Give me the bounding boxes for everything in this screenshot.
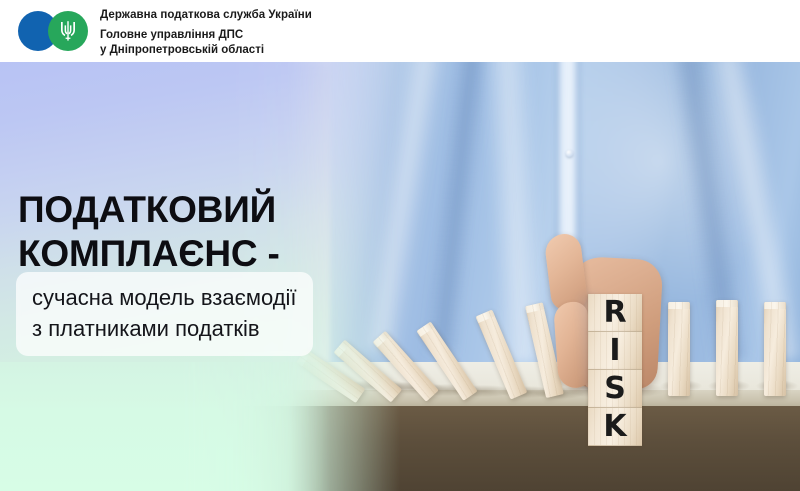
standing-domino (764, 302, 786, 396)
agency-logo (18, 9, 96, 53)
risk-letter: I (609, 336, 620, 366)
page-title: ПОДАТКОВИЙ КОМПЛАЄНС - (18, 188, 280, 276)
subtitle-line-2: з платниками податків (32, 313, 297, 344)
tax-compliance-banner: Державна податкова служба України Головн… (0, 0, 800, 491)
risk-letter: R (603, 298, 626, 328)
logo-green-circle-icon (48, 11, 88, 51)
left-gradient-overlay-bottom (0, 362, 330, 491)
headline-line-1: ПОДАТКОВИЙ (18, 188, 280, 232)
risk-letter: S (604, 374, 626, 404)
hero-stage: R I S K (0, 62, 800, 491)
org-title-region: у Дніпропетровській області (100, 43, 312, 58)
headline-line-2: КОМПЛАЄНС - (18, 232, 280, 276)
subtitle-panel: сучасна модель взаємодії з платниками по… (16, 272, 313, 356)
org-title-department: Головне управління ДПС (100, 28, 312, 43)
ukraine-trident-icon (59, 20, 77, 42)
header-bar: Державна податкова служба України Головн… (0, 0, 800, 62)
subtitle-line-1: сучасна модель взаємодії (32, 282, 297, 313)
standing-domino (668, 302, 690, 396)
standing-domino (716, 300, 738, 396)
risk-block: K (588, 408, 642, 446)
agency-name-block: Державна податкова служба України Головн… (100, 8, 312, 57)
risk-block: I (588, 332, 642, 370)
risk-letter: K (603, 412, 626, 442)
risk-block: S (588, 370, 642, 408)
org-title-primary: Державна податкова служба України (100, 8, 312, 23)
risk-block: R (588, 294, 642, 332)
risk-block-stack: R I S K (588, 294, 642, 446)
